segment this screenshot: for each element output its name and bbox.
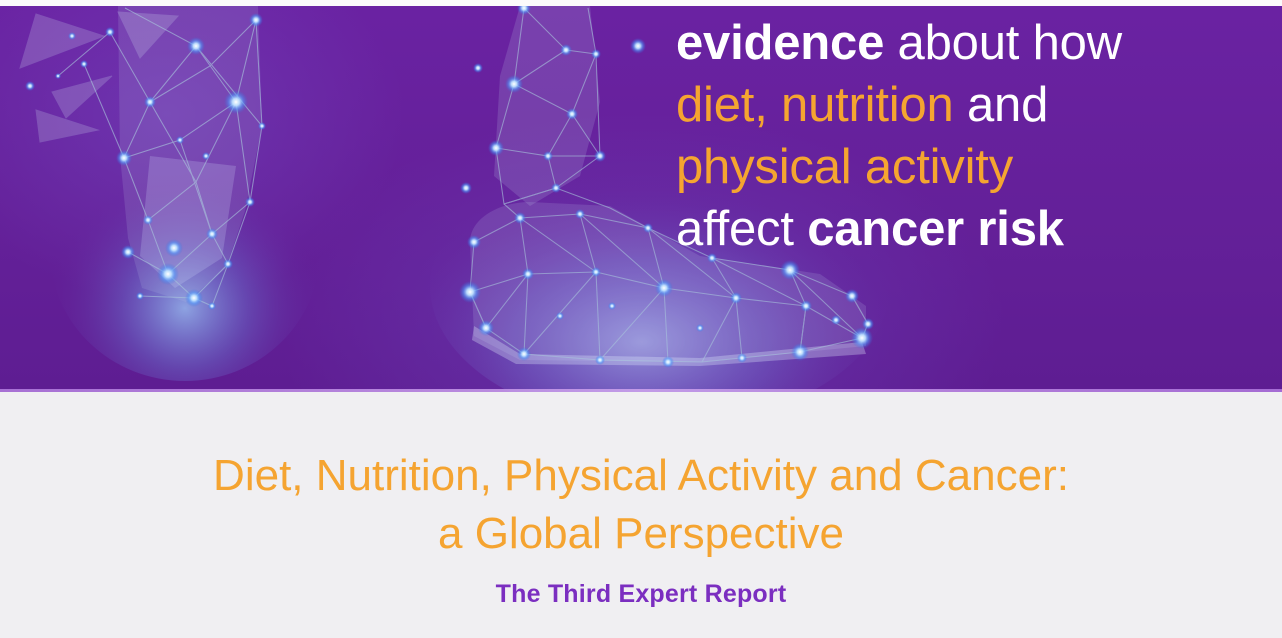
headline-seg-physical-activity: physical activity [676, 140, 1013, 194]
headline-seg-cancer-risk: cancer risk [807, 202, 1064, 256]
hero-banner: evidence about how diet, nutrition and p… [0, 6, 1282, 392]
page-title: Diet, Nutrition, Physical Activity and C… [0, 447, 1282, 563]
headline-seg-diet-nutrition: diet, nutrition [676, 78, 954, 132]
report-title-section: Diet, Nutrition, Physical Activity and C… [0, 395, 1282, 638]
headline-line-2: diet, nutrition and [676, 74, 1196, 136]
headline-line-3: physical activity [676, 136, 1196, 198]
report-cover-page: evidence about how diet, nutrition and p… [0, 0, 1282, 638]
headline-seg-about-how: about how [884, 16, 1122, 70]
headline-line-1: evidence about how [676, 12, 1196, 74]
headline-seg-and: and [954, 78, 1049, 132]
headline-seg-evidence: evidence [676, 16, 884, 70]
hero-headline: evidence about how diet, nutrition and p… [676, 12, 1196, 292]
hero-bottom-divider [0, 389, 1282, 392]
page-title-line-1: Diet, Nutrition, Physical Activity and C… [0, 447, 1282, 505]
page-title-line-2: a Global Perspective [0, 505, 1282, 563]
headline-seg-affect: affect [676, 202, 807, 256]
page-subtitle: The Third Expert Report [0, 580, 1282, 609]
headline-line-4: affect cancer risk [676, 198, 1196, 260]
